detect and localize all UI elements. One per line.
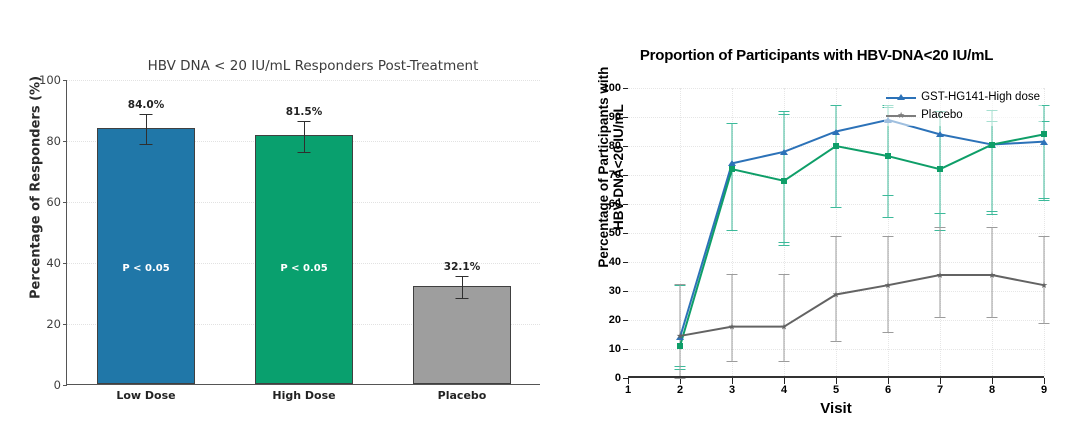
bar-y-tick-label: 20 [46, 317, 61, 331]
line-data-point[interactable] [989, 142, 995, 148]
line-x-tick-label: 8 [989, 384, 995, 396]
line-x-tick-label: 6 [885, 384, 891, 396]
legend-item[interactable]: Placebo [886, 107, 1040, 125]
bar-error-bar [462, 276, 463, 297]
bar-error-cap [140, 114, 153, 115]
line-data-point[interactable] [729, 166, 735, 172]
bar-y-tick-label: 0 [54, 378, 61, 392]
bar-y-tick-mark [63, 385, 67, 386]
bar-gridline [67, 80, 540, 81]
bar-y-tick-mark [63, 80, 67, 81]
bar-y-tick-mark [63, 141, 67, 142]
bar-y-tick-mark [63, 324, 67, 325]
bar-chart-panel: HBV DNA < 20 IU/mL Responders Post-Treat… [0, 0, 560, 435]
bar-low-dose[interactable] [97, 128, 195, 384]
bar-error-cap [456, 276, 469, 277]
line-y-tick-label: 60 [609, 198, 621, 210]
line-x-tick-mark [992, 378, 993, 384]
bar-y-tick-mark [63, 263, 67, 264]
line-y-tick-label: 80 [609, 140, 621, 152]
line-data-point[interactable] [937, 166, 943, 172]
legend-star-icon [886, 110, 916, 121]
line-x-tick-mark [836, 378, 837, 384]
line-data-point[interactable] [832, 129, 840, 135]
line-series-triangle [680, 120, 1044, 338]
line-y-tick-label: 100 [603, 82, 621, 94]
line-x-tick-mark [628, 378, 629, 384]
line-x-tick-label: 9 [1041, 384, 1047, 396]
bar-chart-title: HBV DNA < 20 IU/mL Responders Post-Treat… [118, 58, 508, 74]
line-data-point[interactable] [1041, 131, 1047, 137]
line-data-point[interactable] [780, 149, 788, 155]
line-chart-x-axis-label: Visit [628, 400, 1044, 417]
bar-error-cap [456, 298, 469, 299]
line-chart-plot-area: 0102030405060708090100 123456789 Visit G… [628, 88, 1044, 378]
line-x-tick-mark [940, 378, 941, 384]
bar-y-tick-label: 40 [46, 256, 61, 270]
bar-value-label: 84.0% [128, 99, 164, 111]
line-y-tick-label: 10 [609, 343, 621, 355]
bar-value-label: 32.1% [444, 261, 480, 273]
bar-error-bar [304, 121, 305, 152]
line-x-tick-mark [732, 378, 733, 384]
line-x-tick-label: 2 [677, 384, 683, 396]
bar-y-tick-label: 100 [39, 73, 61, 87]
legend-item-label: Placebo [921, 107, 963, 125]
legend-triangle-icon [886, 92, 916, 103]
line-error-cap [675, 378, 686, 379]
line-chart-panel: Proportion of Participants with HBV-DNA<… [560, 0, 1073, 435]
line-y-tick-label: 70 [609, 169, 621, 181]
line-chart-x-axis [628, 376, 1044, 378]
bar-y-tick-label: 80 [46, 134, 61, 148]
line-y-tick-label: 50 [609, 227, 621, 239]
line-y-tick-label: 0 [615, 372, 621, 384]
line-x-tick-label: 7 [937, 384, 943, 396]
bar-error-cap [298, 152, 311, 153]
bar-y-tick-label: 60 [46, 195, 61, 209]
line-y-tick-label: 40 [609, 256, 621, 268]
figure-container: HBV DNA < 20 IU/mL Responders Post-Treat… [0, 0, 1073, 435]
line-data-point[interactable] [885, 153, 891, 159]
line-x-tick-label: 5 [833, 384, 839, 396]
legend-item[interactable]: GST-HG141-High dose [886, 89, 1040, 107]
line-y-tick-label: 30 [609, 285, 621, 297]
line-x-tick-mark [888, 378, 889, 384]
bar-x-tick-label: High Dose [272, 389, 335, 402]
bar-value-label: 81.5% [286, 106, 322, 118]
bar-chart-plot-area: 020406080100 84.0%Low Dose81.5%High Dose… [66, 80, 540, 385]
bar-placebo[interactable] [413, 286, 511, 384]
bar-y-tick-mark [63, 202, 67, 203]
line-data-point[interactable] [833, 143, 839, 149]
legend-item-label: GST-HG141-High dose [921, 89, 1040, 107]
line-chart-legend: GST-HG141-High dosePlacebo [884, 88, 1042, 126]
line-y-tick-label: 90 [609, 111, 621, 123]
line-x-tick-label: 1 [625, 384, 631, 396]
bar-error-cap [140, 144, 153, 145]
bar-significance-annotation: P < 0.05 [122, 263, 169, 274]
line-y-tick-label: 20 [609, 314, 621, 326]
bar-chart-y-axis-label: Percentage of Responders (%) [29, 68, 44, 308]
bar-high-dose[interactable] [255, 135, 353, 384]
line-chart-title: Proportion of Participants with HBV-DNA<… [560, 47, 1073, 64]
bar-x-tick-label: Low Dose [116, 389, 175, 402]
bar-error-cap [298, 121, 311, 122]
line-data-point[interactable] [936, 131, 944, 137]
bar-error-bar [146, 114, 147, 145]
line-data-point[interactable] [781, 178, 787, 184]
bar-significance-annotation: P < 0.05 [280, 263, 327, 274]
line-x-tick-label: 3 [729, 384, 735, 396]
line-x-tick-mark [1044, 378, 1045, 384]
line-series-star [680, 275, 1044, 336]
line-x-tick-label: 4 [781, 384, 787, 396]
line-x-tick-mark [784, 378, 785, 384]
line-data-point[interactable] [1040, 139, 1048, 145]
line-data-point[interactable] [677, 343, 683, 349]
bar-x-tick-label: Placebo [438, 389, 487, 402]
